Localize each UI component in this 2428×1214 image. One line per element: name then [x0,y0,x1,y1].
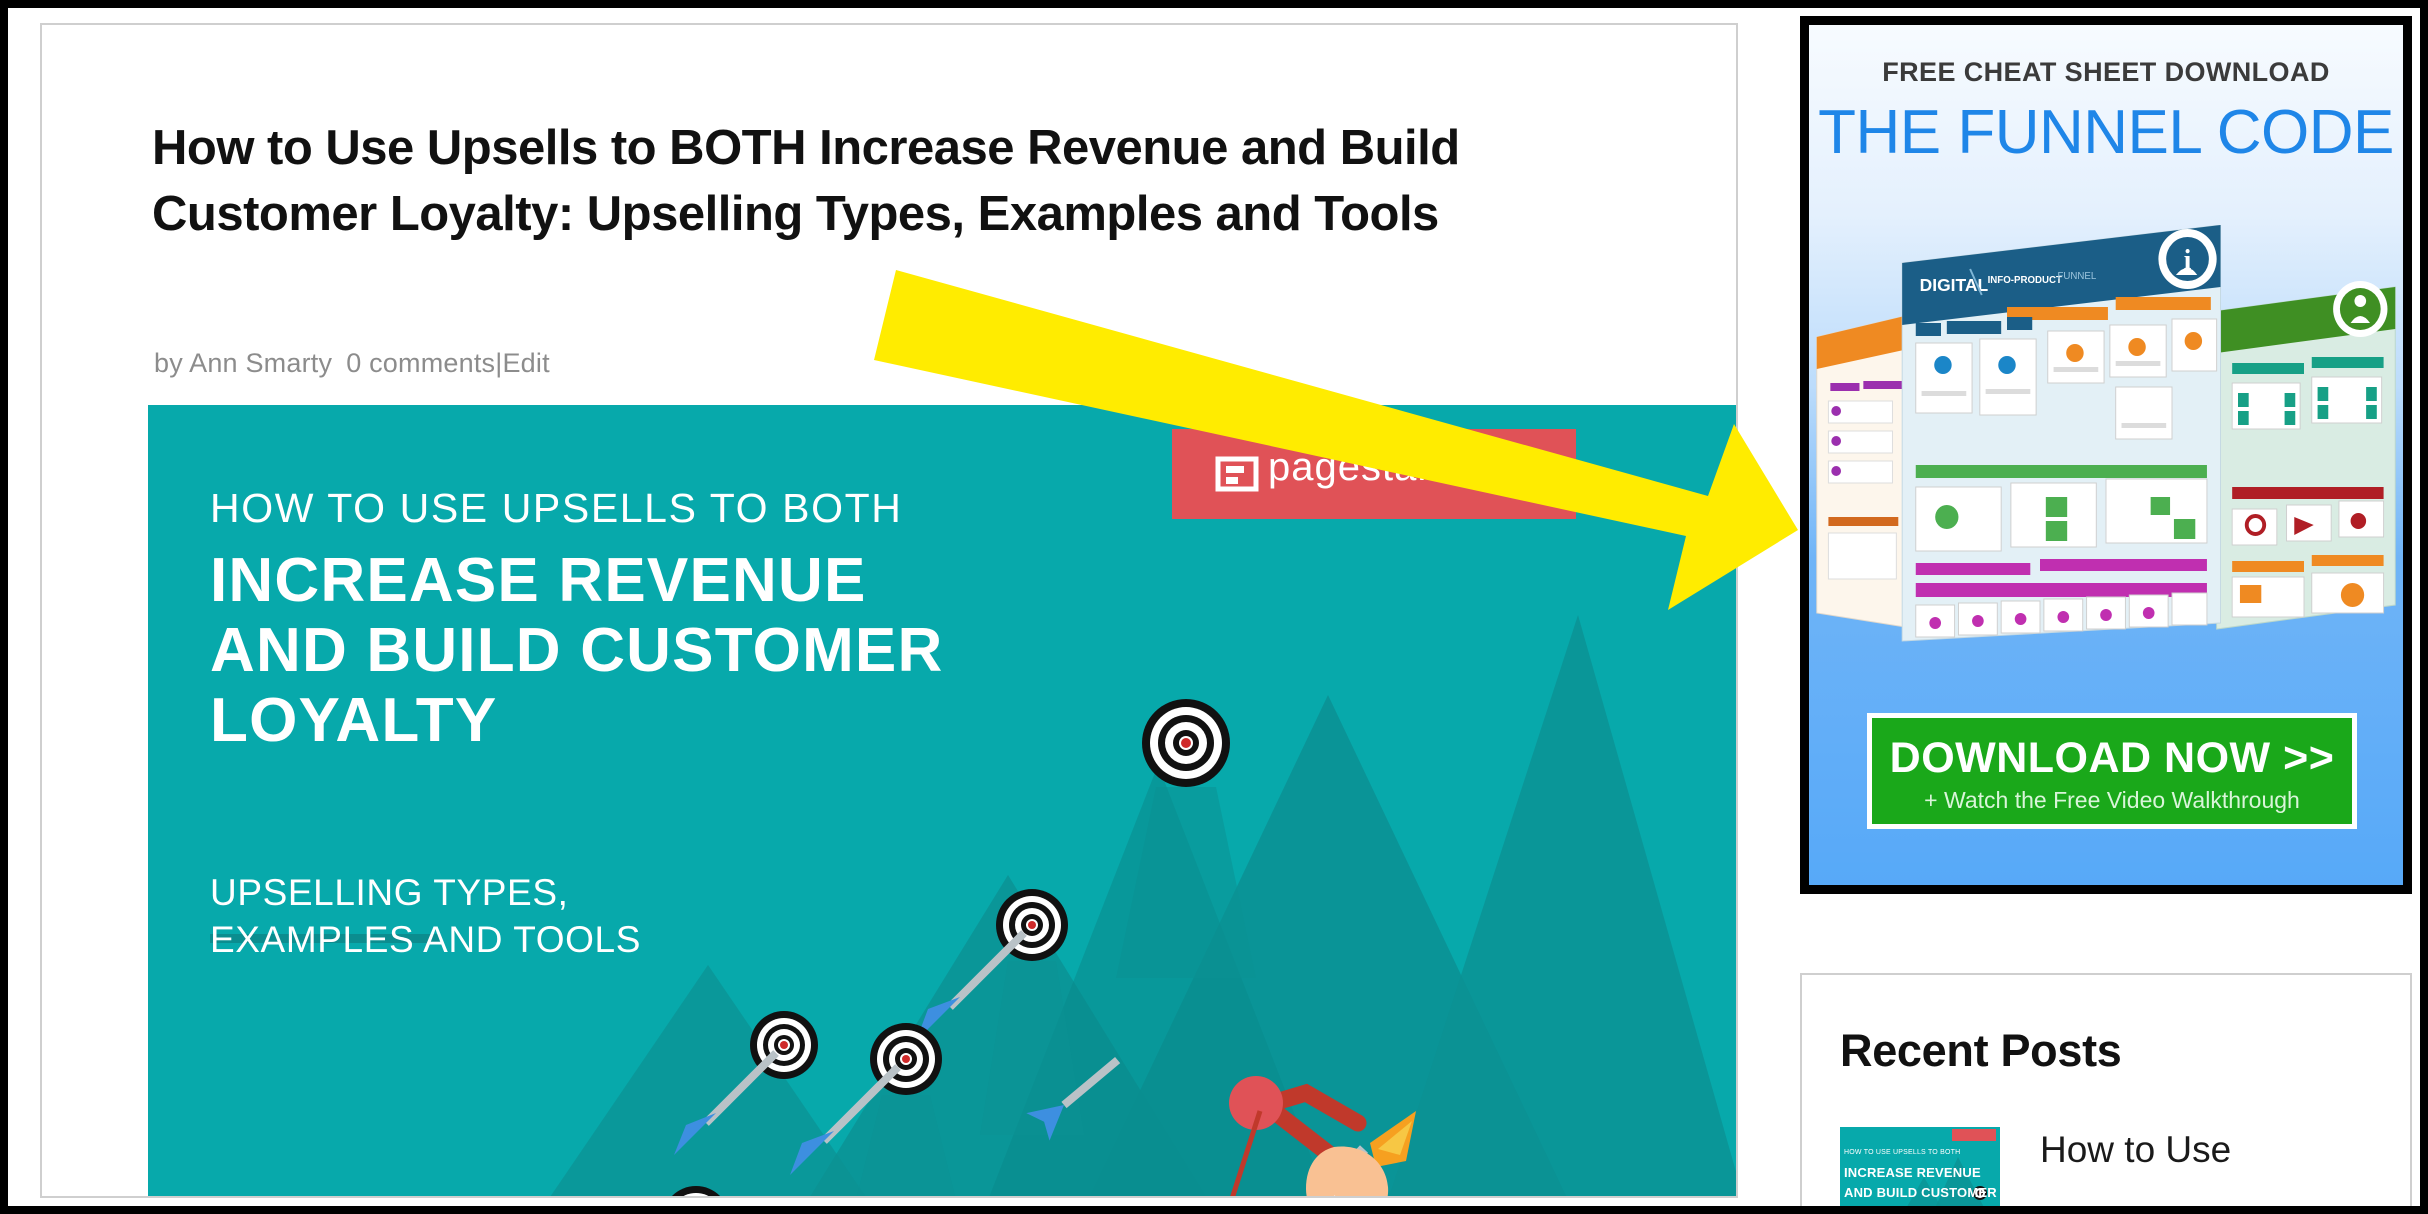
recent-post-title: How to Use [2040,1127,2231,1173]
ad-funnel-code[interactable]: FREE CHEAT SHEET DOWNLOAD THE FUNNEL COD… [1800,16,2412,894]
sidebar: FREE CHEAT SHEET DOWNLOAD THE FUNNEL COD… [1800,16,2412,894]
page-title: How to Use Upsells to BOTH Increase Reve… [152,115,1652,247]
thumb-kicker: HOW TO USE UPSELLS TO BOTH [1844,1149,1960,1156]
ad-headline-text: THE FUNNEL CODE [1809,97,2403,168]
fi-kicker: HOW TO USE UPSELLS TO BOTH [210,485,1310,532]
pagestart-logo-icon [1214,453,1260,495]
fi-headline-3: LOYALTY [210,685,1360,756]
browser-viewport: How to Use Upsells to BOTH Increase Reve… [8,8,2420,1206]
fi-subtitle-1: UPSELLING TYPES, [210,872,1110,914]
ad-eyebrow-text: FREE CHEAT SHEET DOWNLOAD [1809,57,2403,88]
sheet-type-label: INFO-PRODUCT [1988,275,2062,286]
post-edit-link[interactable]: |Edit [495,348,550,378]
article-card: How to Use Upsells to BOTH Increase Reve… [40,23,1738,1198]
post-author: by Ann Smarty [154,348,332,378]
recent-post-thumbnail: HOW TO USE UPSELLS TO BOTH INCREASE REVE… [1840,1127,2000,1206]
recent-posts-card: Recent Posts HOW TO USE UPSELLS TO BOTH … [1800,973,2412,1206]
post-comment-count[interactable]: 0 comments [346,348,495,378]
thumb-line-1: INCREASE REVENUE [1844,1165,1981,1180]
list-item[interactable]: HOW TO USE UPSELLS TO BOTH INCREASE REVE… [1840,1127,2400,1206]
ad-cta-sublabel: + Watch the Free Video Walkthrough [1872,787,2352,814]
fi-headline-1: INCREASE REVENUE [210,545,1360,616]
pagestart-logo-text: pagestart [1268,445,1444,490]
featured-image[interactable]: HOW TO USE UPSELLS TO BOTH INCREASE REVE… [148,405,1738,1198]
recent-posts-heading: Recent Posts [1840,1025,2122,1077]
post-meta: by Ann Smarty0 comments|Edit [154,348,550,379]
pagestart-badge: pagestart [1172,429,1576,519]
ad-cta-label: DOWNLOAD NOW >> [1872,734,2352,783]
fi-subtitle-2: EXAMPLES AND TOOLS [210,919,1110,961]
funnel-sheets-graphic: i DIGITAL INFO-PRODUCT FUNNEL [1809,225,2403,655]
sheet-suffix-label: FUNNEL [2057,271,2096,282]
ad-download-button[interactable]: DOWNLOAD NOW >> + Watch the Free Video W… [1867,713,2357,829]
thumb-line-2: AND BUILD CUSTOMER [1844,1185,1997,1200]
fi-headline-2: AND BUILD CUSTOMER [210,615,1360,686]
